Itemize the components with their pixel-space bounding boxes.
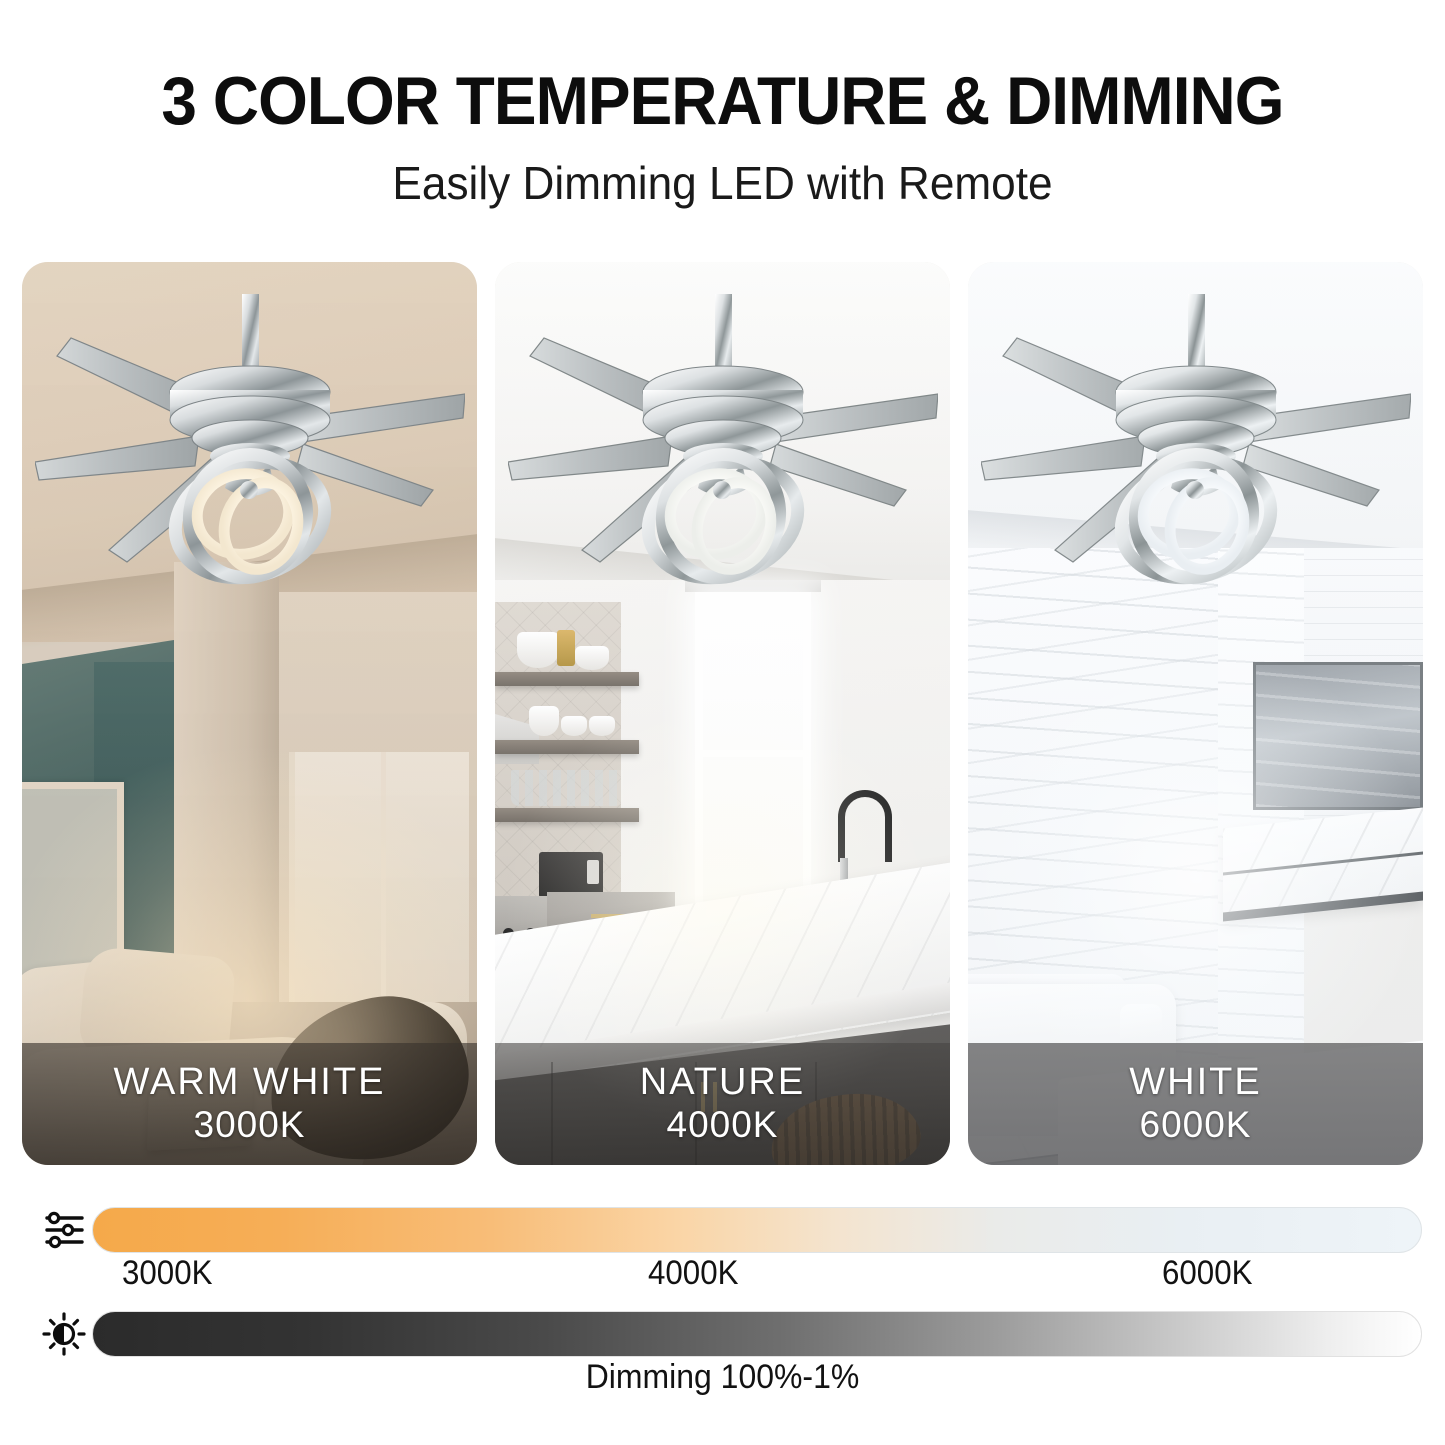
header: 3 COLOR TEMPERATURE & DIMMING Easily Dim… xyxy=(0,0,1445,210)
dimming-row: Dimming 100%-1% xyxy=(0,1300,1445,1378)
panel-label-nature: NATURE 4000K xyxy=(495,1043,950,1165)
page-subtitle: Easily Dimming LED with Remote xyxy=(29,156,1416,210)
ceiling-fan-icon xyxy=(981,294,1411,624)
dimming-caption-text: Dimming 100%-1% xyxy=(586,1358,860,1397)
temperature-ticks: 3000K 4000K 6000K xyxy=(0,1254,1445,1296)
panel-label-name: NATURE xyxy=(640,1062,805,1102)
ceiling-fan-icon xyxy=(508,294,938,624)
page-title: 3 COLOR TEMPERATURE & DIMMING xyxy=(43,62,1401,140)
sliders-icon xyxy=(42,1208,86,1252)
light-glow xyxy=(968,662,1423,1092)
product-infographic: 3 COLOR TEMPERATURE & DIMMING Easily Dim… xyxy=(0,0,1445,1445)
brightness-half-icon xyxy=(42,1312,86,1356)
panel-warm-white[interactable]: WARM WHITE 3000K xyxy=(22,262,477,1165)
panel-white[interactable]: WHITE 6000K xyxy=(968,262,1423,1165)
ceiling-fan-icon xyxy=(35,294,465,624)
dimming-caption: Dimming 100%-1% xyxy=(0,1358,1445,1397)
panel-row: WARM WHITE 3000K xyxy=(22,262,1423,1165)
slider-legend-section: 3000K 4000K 6000K xyxy=(0,1196,1445,1378)
tick-6000k: 6000K xyxy=(1162,1254,1252,1293)
panel-label-kelvin: 3000K xyxy=(194,1104,306,1145)
color-temperature-row: 3000K 4000K 6000K xyxy=(0,1196,1445,1274)
color-temperature-slider[interactable] xyxy=(92,1207,1422,1253)
panel-label-warm-white: WARM WHITE 3000K xyxy=(22,1043,477,1165)
dimming-slider[interactable] xyxy=(92,1311,1422,1357)
panel-label-white: WHITE 6000K xyxy=(968,1043,1423,1165)
panel-label-name: WHITE xyxy=(1129,1062,1261,1102)
panel-label-kelvin: 6000K xyxy=(1140,1104,1252,1145)
tick-4000k: 4000K xyxy=(648,1254,738,1293)
panel-nature[interactable]: NATURE 4000K xyxy=(495,262,950,1165)
panel-label-name: WARM WHITE xyxy=(114,1062,386,1102)
panel-label-kelvin: 4000K xyxy=(667,1104,779,1145)
tick-3000k: 3000K xyxy=(122,1254,212,1293)
